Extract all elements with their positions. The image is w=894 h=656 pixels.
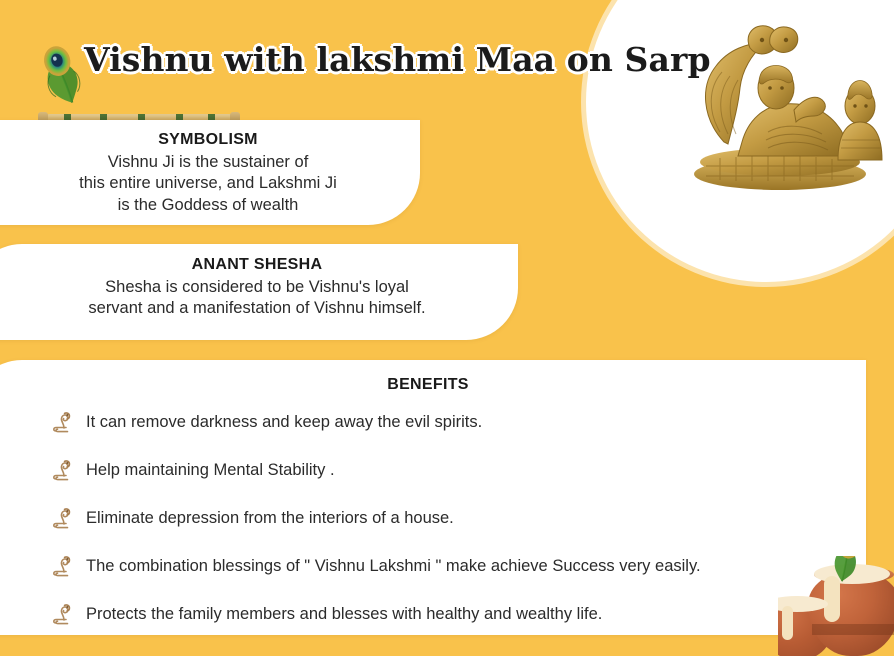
poster-canvas: Vishnu with lakshmi Maa on Sarp SYMBOLIS…	[0, 0, 894, 656]
page-title: Vishnu with lakshmi Maa on Sarp	[84, 34, 604, 86]
symbolism-line: is the Goddess of wealth	[0, 195, 420, 216]
symbolism-card: SYMBOLISM Vishnu Ji is the sustainer of …	[0, 120, 420, 225]
benefit-text: It can remove darkness and keep away the…	[86, 413, 482, 433]
anant-shesha-card-title: ANANT SHESHA	[0, 256, 518, 274]
benefit-list-item: Protects the family members and blesses …	[0, 602, 866, 628]
benefits-card: BENEFITS It can remove darkness and keep…	[0, 360, 866, 635]
anant-shesha-line: Shesha is considered to be Vishnu's loya…	[0, 277, 518, 298]
benefits-list: It can remove darkness and keep away the…	[0, 410, 866, 628]
butter-drip	[782, 606, 793, 640]
anant-shesha-line: servant and a manifestation of Vishnu hi…	[0, 298, 518, 319]
coiled-snake-icon	[50, 410, 76, 436]
anant-shesha-card: ANANT SHESHA Shesha is considered to be …	[0, 244, 518, 340]
symbolism-card-body: Vishnu Ji is the sustainer of this entir…	[0, 152, 420, 216]
benefit-list-item: Help maintaining Mental Stability .	[0, 458, 866, 484]
coiled-snake-icon	[50, 602, 76, 628]
coiled-snake-icon	[50, 554, 76, 580]
symbolism-card-title: SYMBOLISM	[0, 131, 420, 149]
clay-pots-with-butter-decoration	[778, 556, 894, 656]
benefits-card-title: BENEFITS	[0, 376, 866, 394]
coiled-snake-icon	[50, 506, 76, 532]
benefit-text: The combination blessings of " Vishnu La…	[86, 557, 701, 577]
coiled-snake-icon	[50, 458, 76, 484]
anant-shesha-card-body: Shesha is considered to be Vishnu's loya…	[0, 277, 518, 320]
benefit-list-item: The combination blessings of " Vishnu La…	[0, 554, 866, 580]
benefit-text: Protects the family members and blesses …	[86, 605, 602, 625]
symbolism-line: Vishnu Ji is the sustainer of	[0, 152, 420, 173]
benefit-list-item: It can remove darkness and keep away the…	[0, 410, 866, 436]
symbolism-line: this entire universe, and Lakshmi Ji	[0, 173, 420, 194]
benefit-text: Eliminate depression from the interiors …	[86, 509, 454, 529]
benefit-text: Help maintaining Mental Stability .	[86, 461, 335, 481]
benefit-list-item: Eliminate depression from the interiors …	[0, 506, 866, 532]
